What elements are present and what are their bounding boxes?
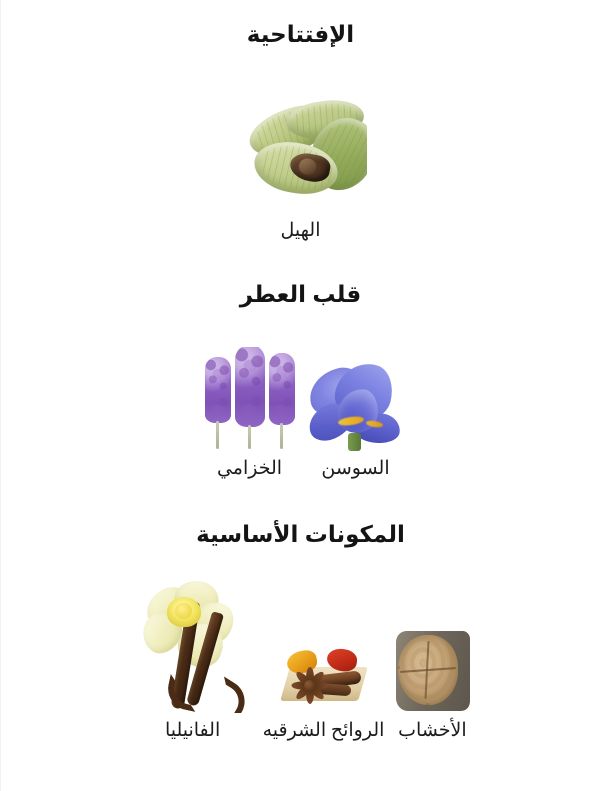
section-title-top-notes: الإفتتاحية: [1, 20, 600, 49]
star-anise-shape: [289, 665, 331, 707]
item-label-cardamom: الهيل: [281, 221, 321, 242]
lavender-sprig-shape: [268, 353, 296, 449]
lavender-stem-shape: [280, 423, 283, 449]
lavender-sprig-shape: [204, 357, 232, 449]
section-title-base-notes: المكونات الأساسية: [1, 520, 600, 549]
item-lavender: الخزامي: [198, 347, 302, 480]
item-label-vanilla: الفانيليا: [165, 721, 220, 742]
lavender-spike-shape: [235, 347, 265, 427]
item-woods: الأخشاب: [388, 625, 476, 742]
item-label-lavender: الخزامي: [217, 459, 282, 480]
items-row-base-notes: الفانيليا: [1, 571, 600, 742]
vanilla-flower-and-pods-photo: [127, 571, 259, 713]
lavender-stem-shape: [216, 421, 219, 449]
oriental-spices-illustration: [279, 633, 369, 713]
lavender-stem-shape: [248, 425, 251, 449]
cardamom-illustration: [234, 91, 367, 209]
wood-log-illustration: [388, 625, 476, 713]
lavender-sprigs-photo: [198, 347, 302, 451]
iris-stem-shape: [348, 433, 361, 451]
item-iris: السوسن: [308, 359, 404, 480]
section-title-heart-notes: قلب العطر: [1, 280, 600, 309]
lavender-spike-shape: [205, 357, 231, 423]
oriental-spices-photo: [279, 633, 369, 713]
vanilla-illustration: [127, 571, 259, 713]
items-row-top-notes: الهيل: [1, 91, 600, 242]
lavender-illustration: [198, 347, 302, 451]
cardamom-pods-photo: [234, 91, 367, 209]
lavender-sprig-shape: [234, 347, 266, 449]
item-label-iris: السوسن: [321, 459, 389, 480]
section-top-notes: الإفتتاحية الهيل: [1, 20, 600, 242]
section-heart-notes: قلب العطر: [1, 280, 600, 480]
iris-illustration: [308, 359, 404, 451]
vanilla-pod-curl-shape: [164, 674, 202, 712]
fragrance-notes-page: الإفتتاحية الهيل قلب العطر: [0, 0, 600, 791]
vanilla-pod-curl-shape: [207, 676, 253, 713]
item-label-woods: الأخشاب: [398, 721, 467, 742]
item-cardamom: الهيل: [234, 91, 367, 242]
items-row-heart-notes: الخزامي السوسن: [1, 347, 600, 480]
item-vanilla: الفانيليا: [127, 571, 259, 742]
wood-log-photo: [388, 625, 476, 713]
vanilla-flower-center-shape: [167, 597, 201, 627]
lavender-spike-shape: [269, 353, 295, 425]
section-base-notes: المكونات الأساسية: [1, 520, 600, 742]
iris-flower-photo: [308, 359, 404, 451]
item-label-oriental: الروائح الشرقيه: [263, 721, 385, 742]
item-oriental: الروائح الشرقيه: [263, 633, 385, 742]
